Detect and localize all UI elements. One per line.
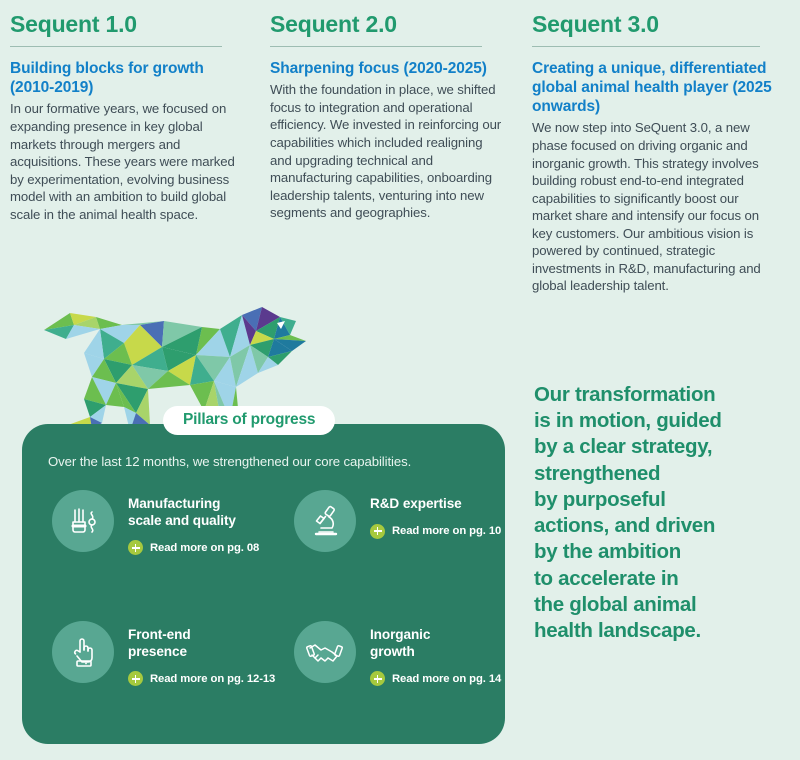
pillar-rnd-expertise[interactable]: R&D expertise Read more on pg. 10 xyxy=(294,490,501,552)
infographic-page: Sequent 1.0 Building blocks for growth (… xyxy=(0,0,800,760)
pointing-hand-icon xyxy=(52,621,114,683)
read-more-label: Read more on pg. 14 xyxy=(392,673,501,685)
era-subtitle: Building blocks for growth (2010-2019) xyxy=(10,59,242,97)
era-body-text: We now step into SeQuent 3.0, a new phas… xyxy=(532,119,772,294)
divider xyxy=(10,46,222,47)
pillar-title: Front-end presence xyxy=(128,627,275,660)
era-title: Sequent 1.0 xyxy=(10,12,242,37)
beaker-test-tubes-icon xyxy=(52,490,114,552)
pillar-title: Inorganic growth xyxy=(370,627,501,660)
era-title: Sequent 3.0 xyxy=(532,12,772,37)
pillars-of-progress-card: Over the last 12 months, we strengthened… xyxy=(22,424,505,744)
read-more-label: Read more on pg. 08 xyxy=(150,542,259,554)
plus-icon xyxy=(128,671,143,686)
transformation-statement: Our transformation is in motion, guided … xyxy=(534,382,784,644)
pillar-title: R&D expertise xyxy=(370,496,501,513)
pillars-of-progress-badge: Pillars of progress xyxy=(163,406,335,435)
divider xyxy=(270,46,482,47)
handshake-icon xyxy=(294,621,356,683)
era-column-sequent-1: Sequent 1.0 Building blocks for growth (… xyxy=(10,12,242,223)
pillar-manufacturing[interactable]: Manufacturing scale and quality Read mor… xyxy=(52,490,259,555)
card-lead-text: Over the last 12 months, we strengthened… xyxy=(48,454,411,469)
era-subtitle: Creating a unique, differentiated global… xyxy=(532,59,772,116)
plus-icon xyxy=(370,671,385,686)
read-more-link[interactable]: Read more on pg. 14 xyxy=(370,671,501,686)
pillar-inorganic-growth[interactable]: Inorganic growth Read more on pg. 14 xyxy=(294,621,501,686)
era-body-text: With the foundation in place, we shifted… xyxy=(270,81,502,221)
read-more-link[interactable]: Read more on pg. 12-13 xyxy=(128,671,275,686)
pillar-front-end-presence[interactable]: Front-end presence Read more on pg. 12-1… xyxy=(52,621,275,686)
read-more-link[interactable]: Read more on pg. 08 xyxy=(128,540,259,555)
plus-icon xyxy=(128,540,143,555)
plus-icon xyxy=(370,524,385,539)
era-title: Sequent 2.0 xyxy=(270,12,502,37)
microscope-icon xyxy=(294,490,356,552)
read-more-label: Read more on pg. 10 xyxy=(392,525,501,537)
pillar-body: Inorganic growth Read more on pg. 14 xyxy=(370,621,501,686)
era-column-sequent-2: Sequent 2.0 Sharpening focus (2020-2025)… xyxy=(270,12,502,222)
read-more-link[interactable]: Read more on pg. 10 xyxy=(370,524,501,539)
pillar-body: Front-end presence Read more on pg. 12-1… xyxy=(128,621,275,686)
pillar-body: Manufacturing scale and quality Read mor… xyxy=(128,490,259,555)
pillar-body: R&D expertise Read more on pg. 10 xyxy=(370,490,501,539)
era-body-text: In our formative years, we focused on ex… xyxy=(10,100,242,223)
era-subtitle: Sharpening focus (2020-2025) xyxy=(270,59,502,78)
era-column-sequent-3: Sequent 3.0 Creating a unique, different… xyxy=(532,12,772,295)
pillar-title: Manufacturing scale and quality xyxy=(128,496,259,529)
read-more-label: Read more on pg. 12-13 xyxy=(150,673,275,685)
divider xyxy=(532,46,760,47)
